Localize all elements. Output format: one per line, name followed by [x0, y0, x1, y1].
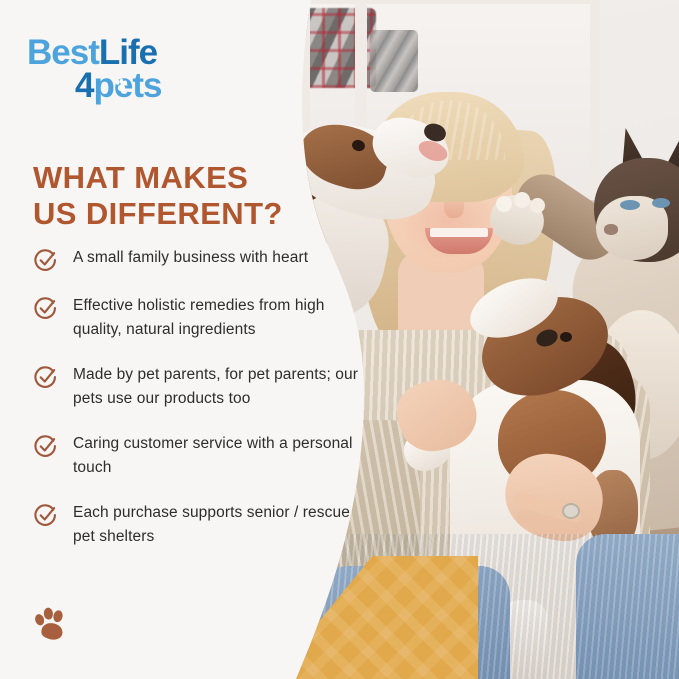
list-item: Made by pet parents, for pet parents; ou… [33, 363, 363, 411]
list-item: A small family business with heart [33, 246, 363, 273]
list-item: Each purchase supports senior / rescue p… [33, 501, 363, 549]
list-item: Effective holistic remedies from high qu… [33, 294, 363, 342]
page-title-line-2: US DIFFERENT? [33, 196, 333, 232]
list-item-label: Caring customer service with a personal … [73, 432, 363, 480]
teeth [430, 228, 488, 237]
check-circle-icon [33, 433, 59, 459]
check-circle-icon [33, 364, 59, 390]
page-title: WHAT MAKES US DIFFERENT? [33, 160, 333, 233]
dog-right-eye [560, 332, 572, 342]
cat-toe [530, 198, 545, 213]
logo-text-4: 4 [75, 66, 93, 105]
cat-nose [604, 224, 618, 235]
cat-eye-left [620, 200, 640, 210]
brand-logo[interactable]: BestLife 4pets [27, 35, 287, 103]
list-item-label: Effective holistic remedies from high qu… [73, 294, 363, 342]
paw-print-icon [113, 78, 130, 93]
yellow-blanket-pattern [258, 556, 478, 679]
cat-eye-right [652, 198, 670, 208]
check-circle-icon [33, 247, 59, 273]
benefits-list: A small family business with heart Effec… [33, 246, 363, 570]
list-item-label: A small family business with heart [73, 246, 308, 270]
logo-line-1: BestLife [27, 35, 287, 70]
list-item-label: Each purchase supports senior / rescue p… [73, 501, 363, 549]
logo-line-2: 4pets [27, 68, 287, 103]
check-circle-icon [33, 295, 59, 321]
list-item: Caring customer service with a personal … [33, 432, 363, 480]
list-item-label: Made by pet parents, for pet parents; ou… [73, 363, 363, 411]
ring [562, 503, 580, 519]
cat-toe [514, 192, 530, 208]
check-circle-icon [33, 502, 59, 528]
promo-graphic: BestLife 4pets WHAT MAKES US DIFFERENT? … [0, 0, 679, 679]
cat-toe [496, 196, 512, 212]
paw-print-icon [30, 604, 72, 646]
page-title-line-1: WHAT MAKES [33, 160, 333, 196]
